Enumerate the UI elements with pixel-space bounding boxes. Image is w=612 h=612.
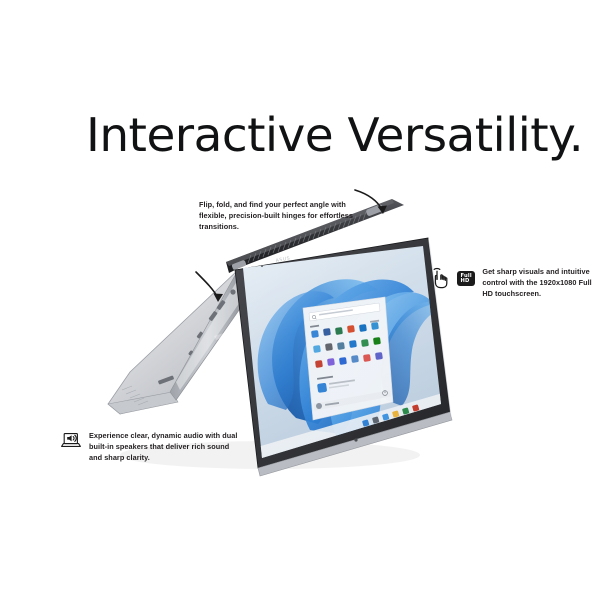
laptop-illustration: ASUS [0,0,612,612]
laptop-speaker-icon [60,430,82,452]
callout-audio: Experience clear, dynamic audio with dua… [60,430,240,463]
touch-hand-icon [430,266,450,290]
callout-hinge: Flip, fold, and find your perfect angle … [199,199,364,232]
page-title: Interactive Versatility. [86,112,565,158]
laptop-display: ASUS [230,235,460,476]
laptop-base-chassis [108,270,246,414]
bezel-indicator [354,438,357,441]
callout-audio-text: Experience clear, dynamic audio with dua… [89,430,240,463]
callout-hinge-text: Flip, fold, and find your perfect angle … [199,199,364,232]
webcam-icon [261,265,263,267]
full-hd-badge: Full HD [457,271,475,286]
callout-touchscreen: Full HD Get sharp visuals and intuitive … [430,266,602,299]
marketing-graphic: ASUS Interactive Versatility. Flip, fold… [0,0,612,612]
callout-touchscreen-text: Get sharp visuals and intuitive control … [482,266,602,299]
